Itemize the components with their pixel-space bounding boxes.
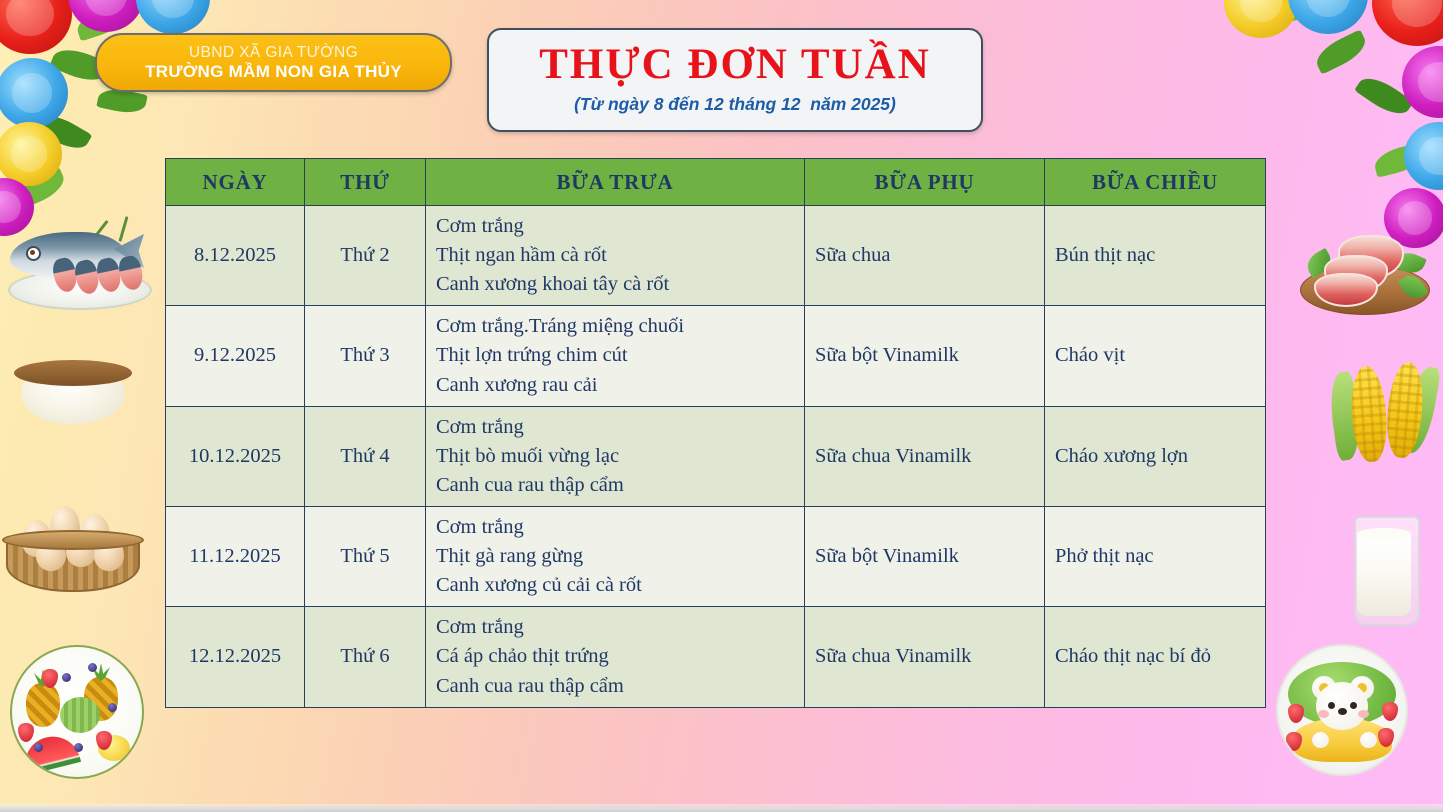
table-row: 8.12.2025 Thứ 2 Cơm trắng Thịt ngan hầm … — [166, 206, 1266, 306]
dish-line: Cá áp chảo thịt trứng — [436, 642, 794, 671]
corn-illustration — [1330, 358, 1443, 468]
bear-rice-plate-illustration — [1276, 644, 1408, 776]
dish-line: Canh xương khoai tây cà rốt — [436, 270, 794, 299]
flowers-top-right — [1236, 0, 1443, 234]
cell-weekday: Thứ 3 — [305, 306, 426, 406]
cell-snack: Sữa chua Vinamilk — [805, 406, 1045, 506]
dish-line: Cơm trắng — [436, 212, 794, 241]
table-row: 12.12.2025 Thứ 6 Cơm trắng Cá áp chảo th… — [166, 607, 1266, 707]
cell-snack: Sữa bột Vinamilk — [805, 506, 1045, 606]
column-header-thu: THỨ — [305, 159, 426, 206]
cell-snack: Sữa chua Vinamilk — [805, 607, 1045, 707]
weekly-menu-table: NGÀY THỨ BỮA TRƯA BỮA PHỤ BỮA CHIỀU 8.12… — [165, 158, 1266, 708]
page-subtitle: (Từ ngày 8 đến 12 tháng 12 năm 2025) — [574, 94, 896, 115]
cell-dinner: Cháo vịt — [1045, 306, 1266, 406]
dish-line: Thịt lợn trứng chim cút — [436, 341, 794, 370]
fruit-platter-illustration — [10, 645, 144, 779]
menu-poster: UBND XÃ GIA TƯỜNG TRƯỜNG MẦM NON GIA THỦ… — [0, 0, 1443, 812]
cell-lunch: Cơm trắng Thịt ngan hầm cà rốt Canh xươn… — [426, 206, 805, 306]
cell-weekday: Thứ 4 — [305, 406, 426, 506]
badge-org-upper: UBND XÃ GIA TƯỜNG — [189, 44, 358, 61]
fish-illustration — [2, 214, 154, 310]
table-row: 9.12.2025 Thứ 3 Cơm trắng.Tráng miệng ch… — [166, 306, 1266, 406]
cell-dinner: Phở thịt nạc — [1045, 506, 1266, 606]
dish-line: Canh cua rau thập cẩm — [436, 471, 794, 500]
cell-lunch: Cơm trắng Thịt bò muối vừng lạc Canh cua… — [426, 406, 805, 506]
cell-date: 12.12.2025 — [166, 607, 305, 707]
dish-line: Thịt gà rang gừng — [436, 542, 794, 571]
cell-weekday: Thứ 2 — [305, 206, 426, 306]
rice-bowl-illustration — [14, 358, 134, 450]
column-header-chieu: BỮA CHIỀU — [1045, 159, 1266, 206]
dish-line: Thịt bò muối vừng lạc — [436, 442, 794, 471]
cell-weekday: Thứ 6 — [305, 607, 426, 707]
cell-dinner: Cháo thịt nạc bí đỏ — [1045, 607, 1266, 707]
cell-date: 9.12.2025 — [166, 306, 305, 406]
dish-line: Canh cua rau thập cẩm — [436, 672, 794, 701]
dish-line: Cơm trắng — [436, 513, 794, 542]
cell-date: 8.12.2025 — [166, 206, 305, 306]
column-header-ngay: NGÀY — [166, 159, 305, 206]
dish-line: Thịt ngan hầm cà rốt — [436, 241, 794, 270]
dish-line: Cơm trắng.Tráng miệng chuối — [436, 312, 794, 341]
cell-lunch: Cơm trắng Cá áp chảo thịt trứng Canh cua… — [426, 607, 805, 707]
table-row: 10.12.2025 Thứ 4 Cơm trắng Thịt bò muối … — [166, 406, 1266, 506]
cell-snack: Sữa chua — [805, 206, 1045, 306]
dish-line: Canh xương rau cải — [436, 371, 794, 400]
badge-org-name: TRƯỜNG MẦM NON GIA THỦY — [145, 62, 402, 81]
page-title: THỰC ĐƠN TUẦN — [539, 43, 931, 87]
cell-lunch: Cơm trắng.Tráng miệng chuối Thịt lợn trứ… — [426, 306, 805, 406]
dish-line: Cơm trắng — [436, 613, 794, 642]
dish-line: Cơm trắng — [436, 413, 794, 442]
cell-dinner: Bún thịt nạc — [1045, 206, 1266, 306]
table-row: 11.12.2025 Thứ 5 Cơm trắng Thịt gà rang … — [166, 506, 1266, 606]
bottom-strip — [0, 804, 1443, 812]
column-header-phu: BỮA PHỤ — [805, 159, 1045, 206]
cell-weekday: Thứ 5 — [305, 506, 426, 606]
cell-lunch: Cơm trắng Thịt gà rang gừng Canh xương c… — [426, 506, 805, 606]
egg-basket-illustration — [6, 500, 140, 596]
table-header-row: NGÀY THỨ BỮA TRƯA BỮA PHỤ BỮA CHIỀU — [166, 159, 1266, 206]
cell-date: 10.12.2025 — [166, 406, 305, 506]
school-badge: UBND XÃ GIA TƯỜNG TRƯỜNG MẦM NON GIA THỦ… — [95, 33, 452, 92]
pork-chops-illustration — [1300, 225, 1430, 321]
cell-dinner: Cháo xương lợn — [1045, 406, 1266, 506]
column-header-trua: BỮA TRƯA — [426, 159, 805, 206]
cell-snack: Sữa bột Vinamilk — [805, 306, 1045, 406]
dish-line: Canh xương củ cải cà rốt — [436, 571, 794, 600]
milk-glass-illustration — [1354, 516, 1420, 626]
title-box: THỰC ĐƠN TUẦN (Từ ngày 8 đến 12 tháng 12… — [487, 28, 983, 132]
cell-date: 11.12.2025 — [166, 506, 305, 606]
